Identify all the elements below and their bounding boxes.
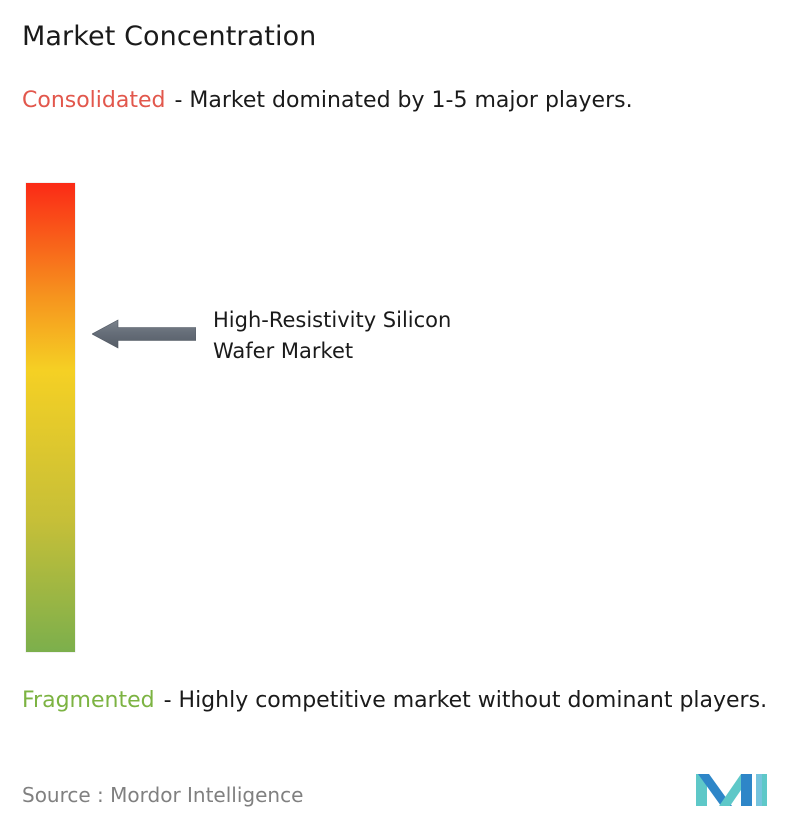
marker-arrow: [92, 319, 196, 349]
marker-label-line2: Wafer Market: [213, 339, 353, 363]
legend-fragmented: Fragmented- Highly competitive market wi…: [22, 685, 784, 716]
legend-keyword-consolidated: Consolidated: [22, 88, 165, 113]
mi-monogram-icon: [694, 770, 768, 810]
mordor-intelligence-logo: [694, 770, 768, 810]
left-arrow-icon: [92, 319, 196, 349]
source-attribution: Source : Mordor Intelligence: [22, 782, 303, 809]
legend-description-consolidated: - Market dominated by 1-5 major players.: [174, 88, 632, 113]
concentration-gradient-bar: [26, 183, 75, 652]
page-title: Market Concentration: [22, 20, 316, 54]
legend-description-fragmented: - Highly competitive market without domi…: [164, 688, 767, 713]
legend-consolidated: Consolidated- Market dominated by 1-5 ma…: [22, 85, 774, 116]
marker-label-line1: High-Resistivity Silicon: [213, 308, 451, 332]
legend-keyword-fragmented: Fragmented: [22, 688, 155, 713]
marker-label: High-Resistivity Silicon Wafer Market: [213, 305, 593, 367]
market-concentration-chart: Market Concentration Consolidated- Marke…: [0, 0, 796, 834]
